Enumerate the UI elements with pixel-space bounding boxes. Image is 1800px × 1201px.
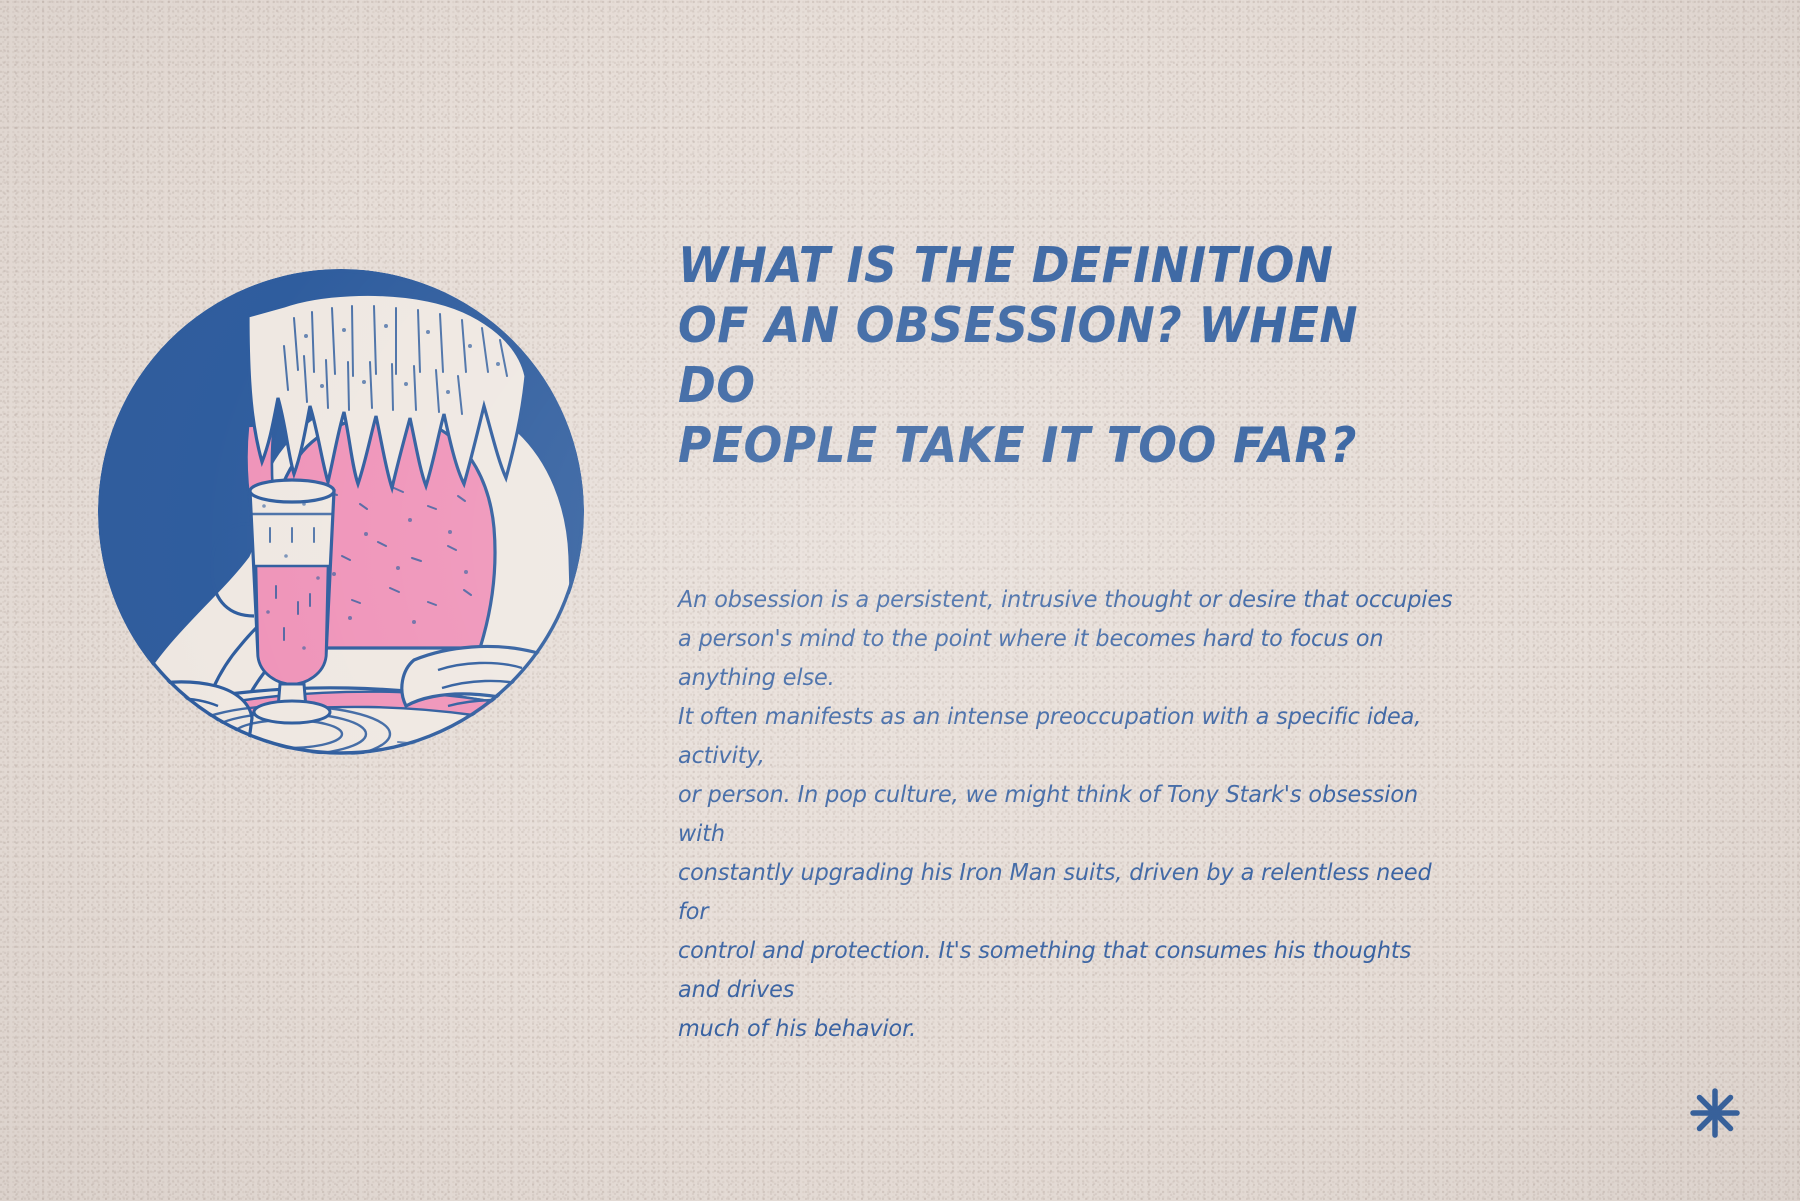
text-column: What is the definition of an obsession? …	[678, 236, 1508, 476]
illustration-circle	[98, 256, 584, 768]
glass-liquid	[256, 566, 328, 684]
body-paragraph: An obsession is a persistent, intrusive …	[678, 580, 1457, 1048]
asterisk-icon	[1688, 1086, 1742, 1140]
glass-foot	[254, 701, 330, 723]
page-title: What is the definition of an obsession? …	[678, 236, 1450, 476]
cigarette	[530, 680, 566, 702]
glass-rim	[250, 480, 334, 502]
